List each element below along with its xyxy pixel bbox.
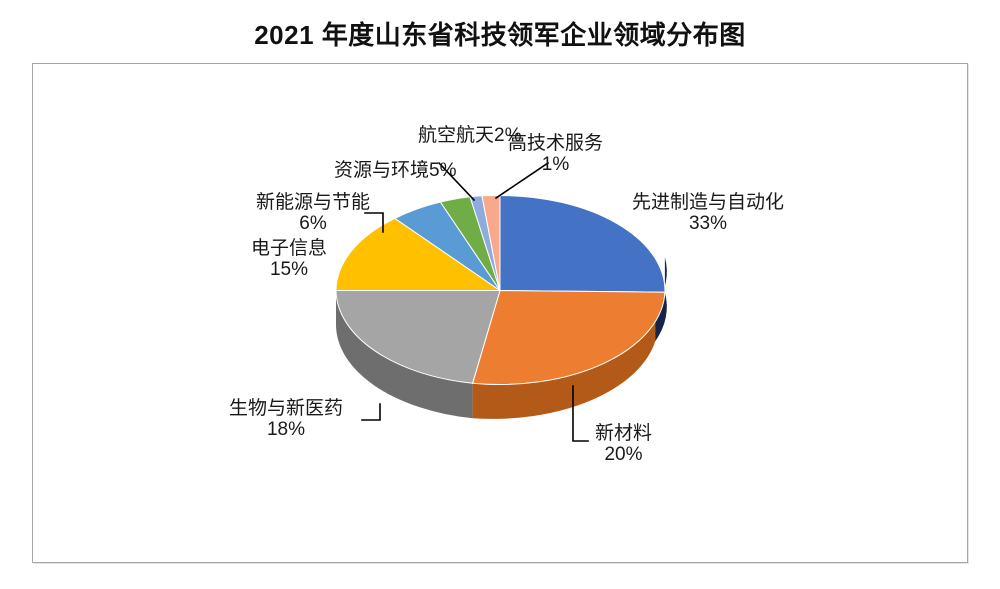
label-name-advanced-manufacturing: 先进制造与自动化 <box>632 192 784 213</box>
label-pct-new-energy: 6% <box>256 213 370 234</box>
label-name-bio-medicine: 生物与新医药 <box>229 398 343 419</box>
data-label-new-materials: 新材料 20% <box>595 423 652 466</box>
label-name-aerospace: 航空航天 <box>418 125 494 146</box>
data-label-hitech-service: 高技术服务 1% <box>508 133 603 176</box>
label-pct-bio-medicine: 18% <box>229 419 343 440</box>
chart-title: 2021 年度山东省科技领军企业领域分布图 <box>0 15 1000 52</box>
label-name-new-energy: 新能源与节能 <box>256 192 370 213</box>
data-label-advanced-manufacturing: 先进制造与自动化 33% <box>632 192 784 235</box>
label-name-hitech-service: 高技术服务 <box>508 133 603 154</box>
pie-chart-figure: 2021 年度山东省科技领军企业领域分布图 <box>0 0 1000 589</box>
data-label-resource-env: 资源与环境5% <box>334 160 456 181</box>
label-name-new-materials: 新材料 <box>595 423 652 444</box>
label-pct-hitech-service: 1% <box>508 154 603 175</box>
label-name-electronic-info: 电子信息 <box>251 238 327 259</box>
data-label-aerospace: 航空航天2% <box>418 125 521 146</box>
label-pct-resource-env: 5% <box>429 160 456 181</box>
label-pct-electronic-info: 15% <box>251 259 327 280</box>
label-pct-new-materials: 20% <box>595 444 652 465</box>
label-name-resource-env: 资源与环境 <box>334 160 429 181</box>
data-label-new-energy: 新能源与节能 6% <box>256 192 370 235</box>
label-pct-advanced-manufacturing: 33% <box>632 213 784 234</box>
data-label-electronic-info: 电子信息 15% <box>251 238 327 281</box>
data-label-bio-medicine: 生物与新医药 18% <box>229 398 343 441</box>
